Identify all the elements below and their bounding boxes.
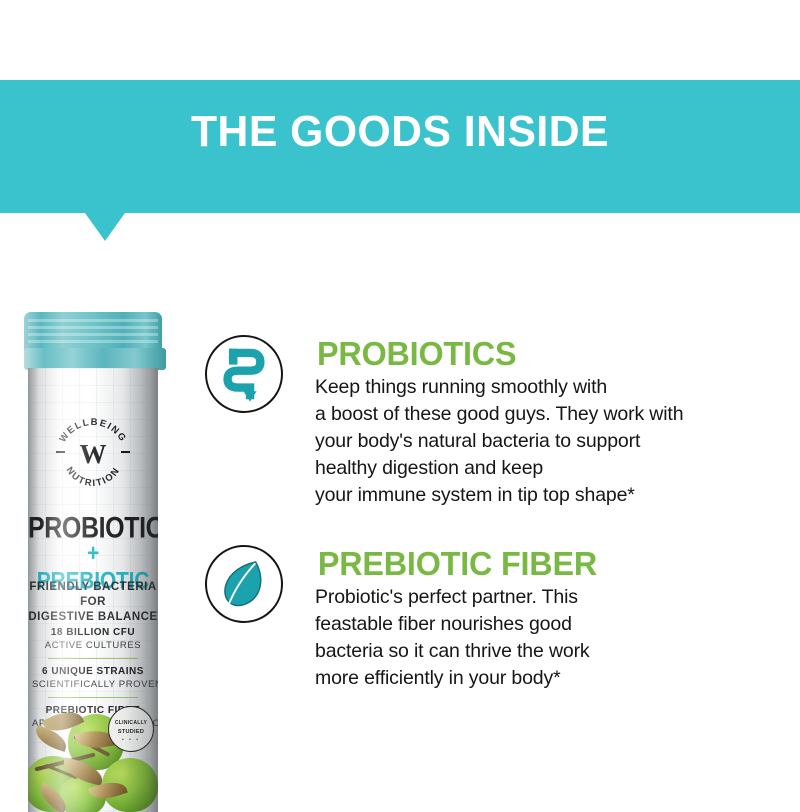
brand-logo: WELLBEING NUTRITION W bbox=[52, 412, 134, 494]
feature-body-line: Probiotic's perfect partner. This bbox=[315, 584, 590, 611]
tube-tagline-line2: DIGESTIVE BALANCE bbox=[28, 610, 158, 625]
feature-body: Keep things running smoothly with a boos… bbox=[315, 374, 683, 509]
leaf-icon bbox=[205, 545, 283, 623]
feature-body-line: Keep things running smoothly with bbox=[315, 374, 683, 401]
page-title: THE GOODS INSIDE bbox=[12, 109, 788, 155]
tube-cap bbox=[24, 312, 162, 368]
feature-body-line: a boost of these good guys. They work wi… bbox=[315, 401, 683, 428]
feature-heading: PREBIOTIC FIBER bbox=[318, 547, 597, 580]
feature-body-line: your body's natural bacteria to support bbox=[315, 428, 683, 455]
product-tube-image: WELLBEING NUTRITION W PROBIOTIC + PREBIO… bbox=[22, 312, 164, 812]
tube-body: WELLBEING NUTRITION W PROBIOTIC + PREBIO… bbox=[28, 368, 158, 812]
tube-claim-strong: 6 UNIQUE STRAINS bbox=[32, 665, 154, 678]
feature-probiotics: PROBIOTICS Keep things running smoothly … bbox=[205, 335, 795, 525]
feature-prebiotic-fiber: PREBIOTIC FIBER Probiotic's perfect part… bbox=[205, 545, 795, 720]
tube-claim-light: SCIENTIFICALLY PROVEN* bbox=[32, 678, 154, 691]
intestine-icon bbox=[205, 335, 283, 413]
feature-body-line: more efficiently in your body* bbox=[315, 665, 590, 692]
tube-fruit-illustration: CLINICALLY STUDIED • • • bbox=[28, 704, 158, 812]
banner-notch-arrow bbox=[85, 213, 125, 241]
seal-dots: • • • bbox=[109, 737, 153, 743]
feature-body-line: healthy digestion and keep bbox=[315, 455, 683, 482]
claim-divider bbox=[48, 658, 138, 659]
feature-heading: PROBIOTICS bbox=[317, 337, 516, 370]
feature-body-line: feastable fiber nourishes good bbox=[315, 611, 590, 638]
tube-cap-lip bbox=[24, 348, 166, 370]
clinically-studied-seal: CLINICALLY STUDIED • • • bbox=[108, 706, 154, 752]
seal-line-2: STUDIED bbox=[109, 729, 153, 735]
feature-body-line: bacteria so it can thrive the work bbox=[315, 638, 590, 665]
claim-divider bbox=[48, 697, 138, 698]
tube-claim-strong: 18 BILLION CFU bbox=[32, 626, 154, 639]
brand-monogram: W bbox=[52, 439, 134, 470]
tube-tagline-line1: FRIENDLY BACTERIA FOR bbox=[28, 580, 158, 610]
feature-body-line: your immune system in tip top shape* bbox=[315, 482, 683, 509]
seal-line-1: CLINICALLY bbox=[109, 720, 153, 726]
tube-claim-light: ACTIVE CULTURES bbox=[32, 639, 154, 652]
tube-tagline: FRIENDLY BACTERIA FOR DIGESTIVE BALANCE bbox=[28, 580, 158, 625]
feature-body: Probiotic's perfect partner. This feasta… bbox=[315, 584, 590, 692]
header-banner: THE GOODS INSIDE bbox=[0, 80, 800, 213]
